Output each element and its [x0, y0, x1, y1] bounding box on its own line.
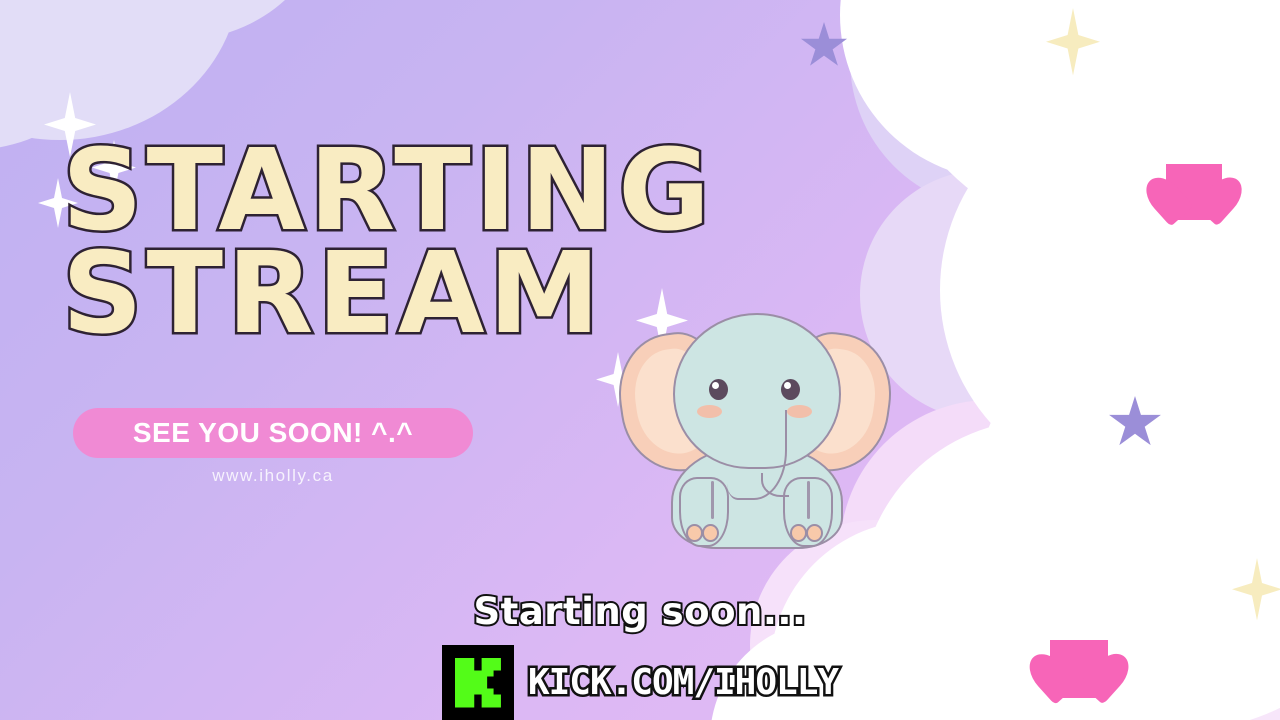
star-icon — [800, 22, 848, 70]
elephant-eye-left — [709, 379, 728, 400]
stream-starting-soon-overlay: STARTING STREAM SEE YOU SOON! ^.^ www.ih… — [0, 0, 1280, 720]
sparkle-icon — [930, 500, 968, 548]
heart-icon — [1166, 164, 1222, 220]
elephant-body-line — [807, 481, 810, 519]
elephant-leg-left — [679, 477, 729, 547]
elephant-toe — [790, 524, 807, 542]
kick-k-glyph — [455, 658, 501, 708]
elephant-cheek-right — [787, 405, 812, 418]
kick-channel-row: KICK.COM/IHOLLY — [0, 645, 1280, 720]
kick-channel-url: KICK.COM/IHOLLY — [528, 662, 838, 703]
elephant-toe — [702, 524, 719, 542]
elephant-eye-right — [781, 379, 800, 400]
status-text: Starting soon... — [0, 590, 1280, 633]
sparkle-icon — [892, 496, 948, 566]
elephant-mascot — [615, 305, 895, 545]
see-you-soon-banner: SEE YOU SOON! ^.^ — [73, 408, 473, 458]
star-icon — [1108, 396, 1162, 450]
elephant-cheek-left — [697, 405, 722, 418]
elephant-body-line — [711, 481, 714, 519]
kick-logo-icon — [442, 645, 514, 720]
elephant-toe — [806, 524, 823, 542]
see-you-soon-label: SEE YOU SOON! ^.^ — [133, 417, 413, 449]
website-url-label: www.iholly.ca — [73, 466, 473, 486]
elephant-toe — [686, 524, 703, 542]
sparkle-icon — [1046, 8, 1100, 76]
